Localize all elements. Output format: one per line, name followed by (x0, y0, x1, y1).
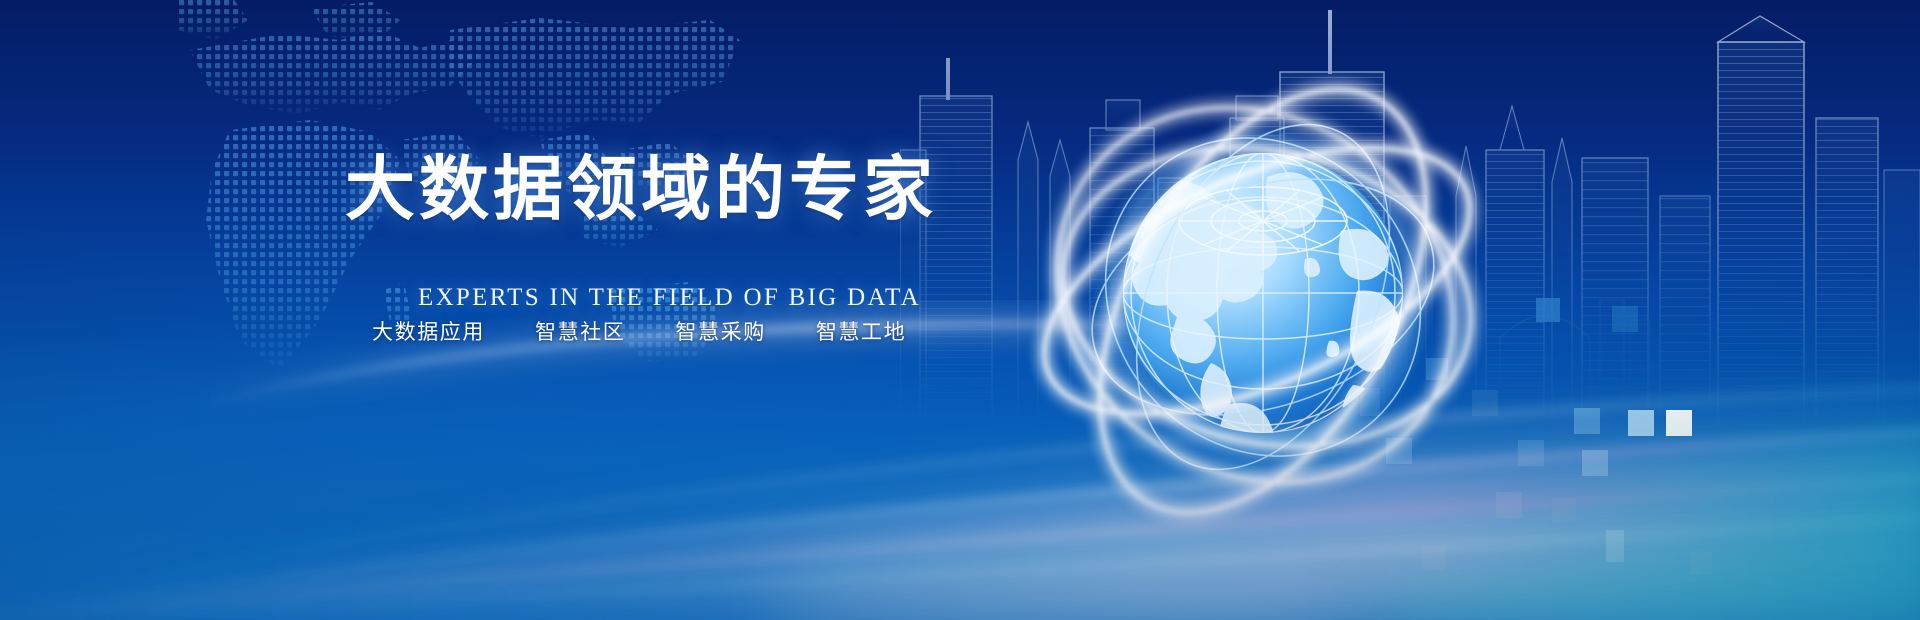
nav-separator (487, 331, 533, 332)
pixel-squares-icon (1360, 0, 1920, 620)
nav-item-smart-procurement[interactable]: 智慧采购 (673, 312, 767, 350)
hero-nav: 大数据应用 智慧社区 智慧采购 智慧工地 (370, 312, 908, 350)
nav-separator (627, 331, 673, 332)
page-title: 大数据领域的专家 (345, 152, 937, 226)
hero-banner: 大数据领域的专家 EXPERTS IN THE FIELD OF BIG DAT… (0, 0, 1920, 620)
city-skyline-icon (900, 0, 1920, 430)
nav-item-bigdata-app[interactable]: 大数据应用 (370, 312, 487, 350)
nav-separator (768, 331, 814, 332)
page-subtitle: EXPERTS IN THE FIELD OF BIG DATA (418, 283, 921, 313)
hero-copy: 大数据领域的专家 EXPERTS IN THE FIELD OF BIG DAT… (0, 0, 1000, 620)
globe-network-icon (1005, 45, 1525, 545)
nav-item-smart-construction-site[interactable]: 智慧工地 (814, 312, 908, 350)
nav-item-smart-community[interactable]: 智慧社区 (533, 312, 627, 350)
